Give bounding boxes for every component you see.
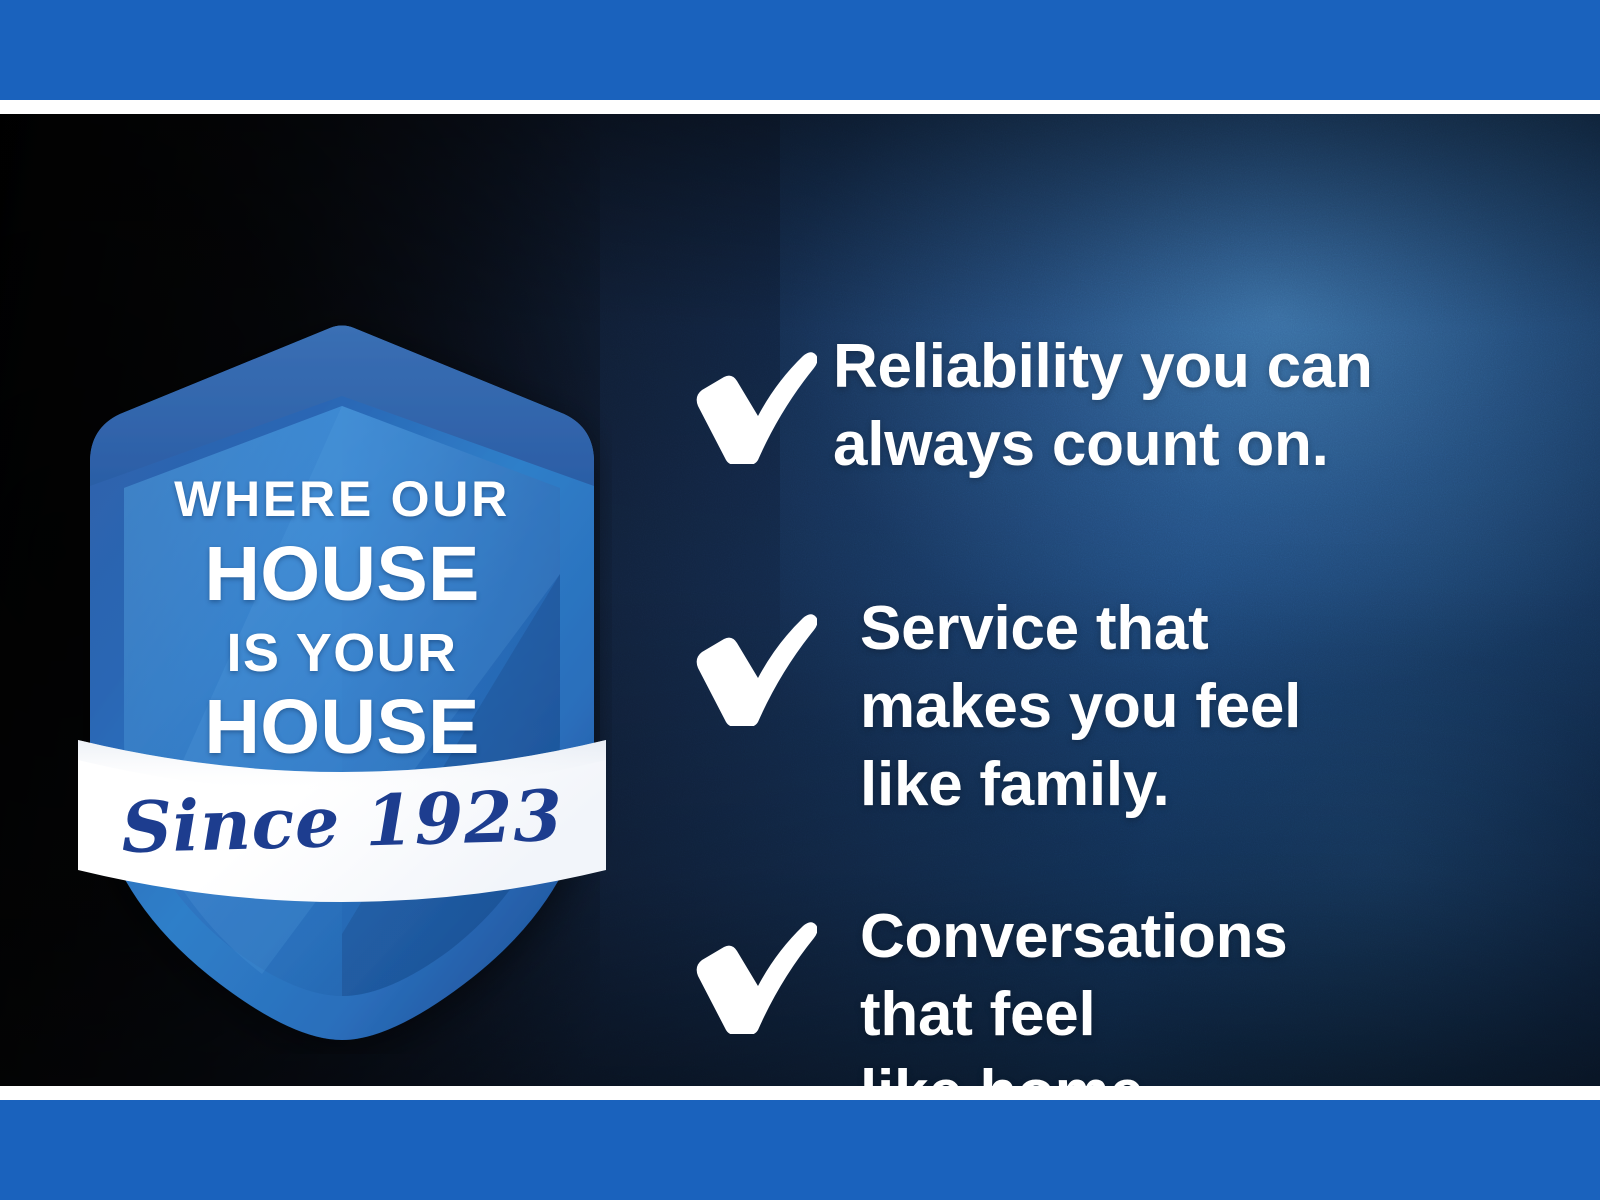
top-brand-bar bbox=[0, 0, 1600, 100]
benefit-text-service: Service that makes you feel like family. bbox=[860, 590, 1552, 824]
check-icon bbox=[672, 334, 817, 464]
main-stage: WHERE OUR HOUSE IS YOUR HOUSE Since 1923… bbox=[0, 114, 1600, 1086]
bottom-divider bbox=[0, 1086, 1600, 1100]
bottom-brand-bar bbox=[0, 1100, 1600, 1200]
benefit-item-conversations: Conversations that feel like home. bbox=[672, 898, 1552, 1086]
benefit-item-reliability: Reliability you can always count on. bbox=[672, 328, 1552, 484]
benefit-text-reliability: Reliability you can always count on. bbox=[833, 328, 1552, 484]
check-icon bbox=[672, 596, 817, 726]
benefit-text-conversations: Conversations that feel like home. bbox=[860, 898, 1552, 1086]
shield-badge: WHERE OUR HOUSE IS YOUR HOUSE Since 1923 bbox=[72, 274, 612, 1054]
badge-line-1: WHERE OUR bbox=[72, 474, 612, 524]
benefit-item-service: Service that makes you feel like family. bbox=[672, 590, 1552, 824]
promo-poster: WHERE OUR HOUSE IS YOUR HOUSE Since 1923… bbox=[0, 0, 1600, 1200]
check-icon bbox=[672, 904, 817, 1034]
top-divider bbox=[0, 100, 1600, 114]
badge-line-2: HOUSE bbox=[72, 536, 612, 613]
badge-line-4: HOUSE bbox=[72, 689, 612, 766]
benefits-list: Reliability you can always count on. Ser… bbox=[672, 228, 1552, 1086]
badge-line-3: IS YOUR bbox=[72, 626, 612, 680]
badge-since-ribbon-text: Since 1923 bbox=[71, 772, 613, 870]
